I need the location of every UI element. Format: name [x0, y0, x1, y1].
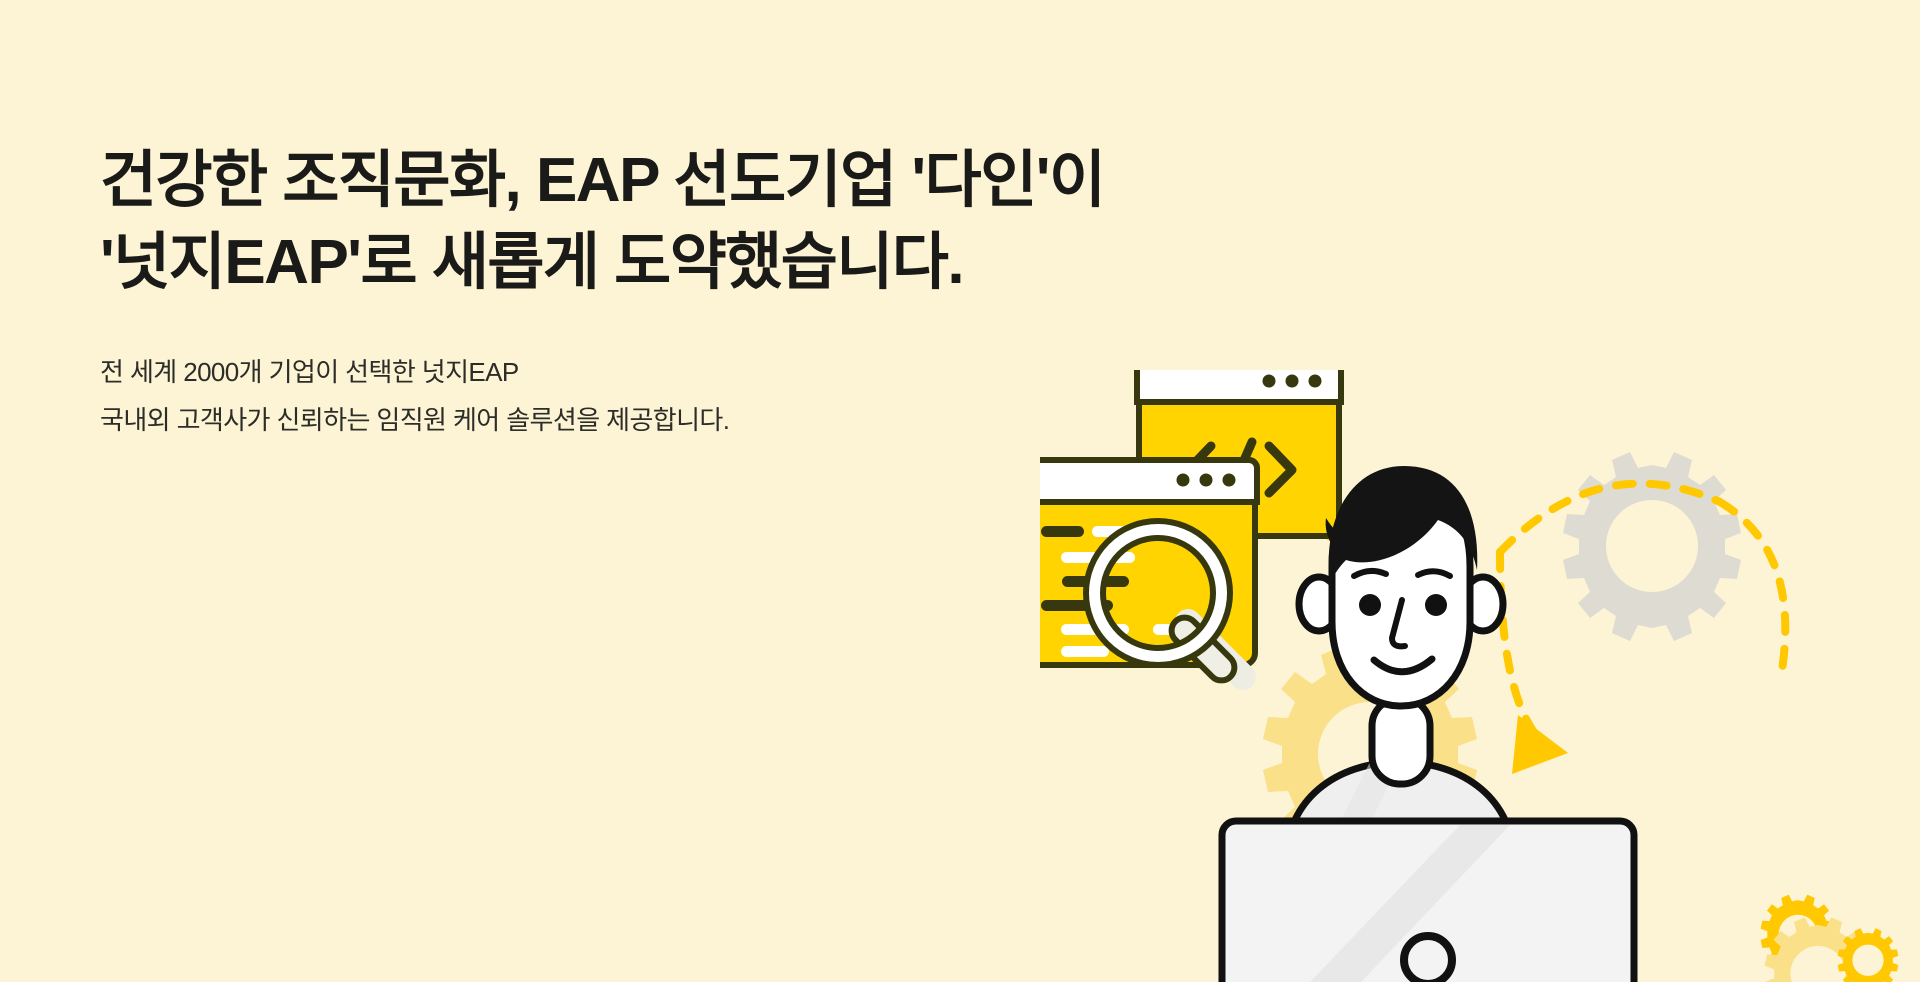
window-dot [1286, 375, 1299, 388]
hero-banner: 건강한 조직문화, EAP 선도기업 '다인'이 '넛지EAP'로 새롭게 도약… [0, 0, 1920, 982]
window-dot [1200, 474, 1213, 487]
subcopy-line-2: 국내외 고객사가 신뢰하는 임직원 케어 솔루션을 제공합니다. [100, 396, 1100, 444]
window-dot [1223, 474, 1236, 487]
search-browser-window [1040, 460, 1257, 686]
headline-line-1: 건강한 조직문화, EAP 선도기업 '다인'이 [100, 140, 1100, 222]
window-dot [1263, 375, 1276, 388]
headline-line-2: '넛지EAP'로 새롭게 도약했습니다. [100, 222, 1100, 304]
subcopy-line-1: 전 세계 2000개 기업이 선택한 넛지EAP [100, 348, 1100, 396]
window-dot [1177, 474, 1190, 487]
hero-subcopy: 전 세계 2000개 기업이 선택한 넛지EAP 국내외 고객사가 신뢰하는 임… [100, 348, 1100, 444]
eap-developer-illustration [1040, 370, 1920, 982]
window-dot [1309, 375, 1322, 388]
gear-icon [1838, 928, 1899, 982]
laptop-icon [1040, 821, 1656, 982]
hero-copy-block: 건강한 조직문화, EAP 선도기업 '다인'이 '넛지EAP'로 새롭게 도약… [100, 140, 1100, 444]
page-title: 건강한 조직문화, EAP 선도기업 '다인'이 '넛지EAP'로 새롭게 도약… [100, 140, 1100, 304]
